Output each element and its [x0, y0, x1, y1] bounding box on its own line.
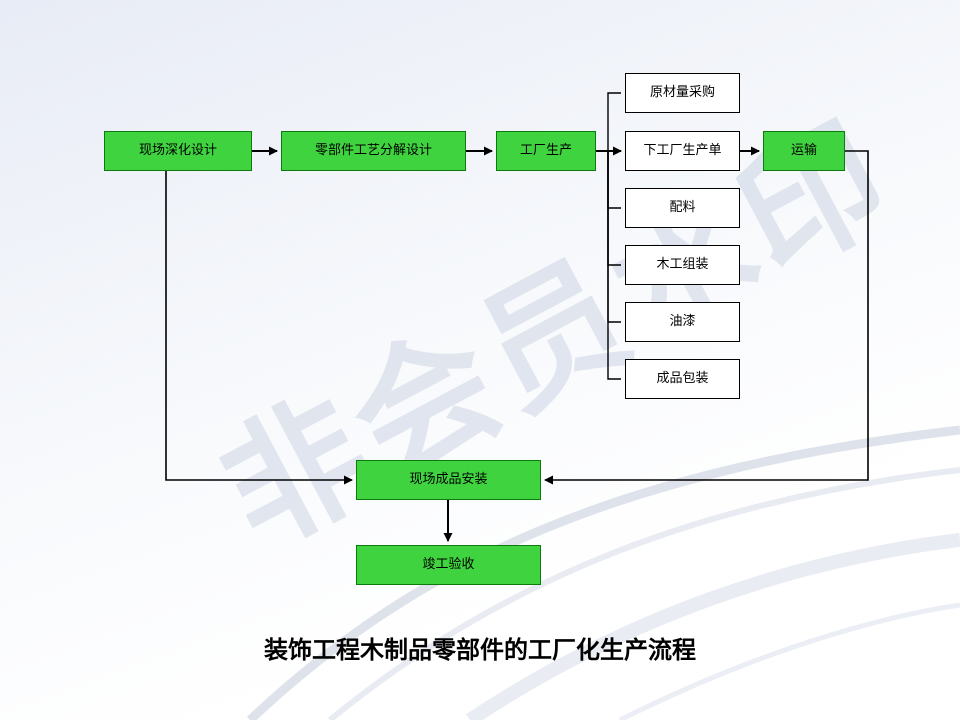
flow-node-onsite-installation[interactable]: 现场成品安装	[356, 460, 541, 500]
decorative-swoosh	[0, 0, 960, 720]
flow-node-production-order[interactable]: 下工厂生产单	[625, 131, 740, 171]
flow-node-raw-material-purchase[interactable]: 原材量采购	[625, 73, 740, 113]
flow-node-material-prep[interactable]: 配料	[625, 188, 740, 228]
diagram-title: 装饰工程木制品零部件的工厂化生产流程	[0, 630, 960, 665]
flow-node-carpentry-assembly[interactable]: 木工组装	[625, 245, 740, 285]
flow-node-painting[interactable]: 油漆	[625, 302, 740, 342]
flow-node-factory-production[interactable]: 工厂生产	[496, 131, 596, 171]
flow-connectors	[0, 0, 960, 720]
flow-node-transport[interactable]: 运输	[763, 131, 845, 171]
flow-node-packaging[interactable]: 成品包装	[625, 359, 740, 399]
flow-node-component-process-design[interactable]: 零部件工艺分解设计	[281, 131, 466, 171]
flow-node-completion-acceptance[interactable]: 竣工验收	[356, 545, 541, 585]
flow-node-site-design[interactable]: 现场深化设计	[104, 131, 252, 171]
slide-canvas: 非会员水印 现场深化设计 零部件工艺分解设计 工厂生产 运输 原材量采购 下工厂	[0, 0, 960, 720]
